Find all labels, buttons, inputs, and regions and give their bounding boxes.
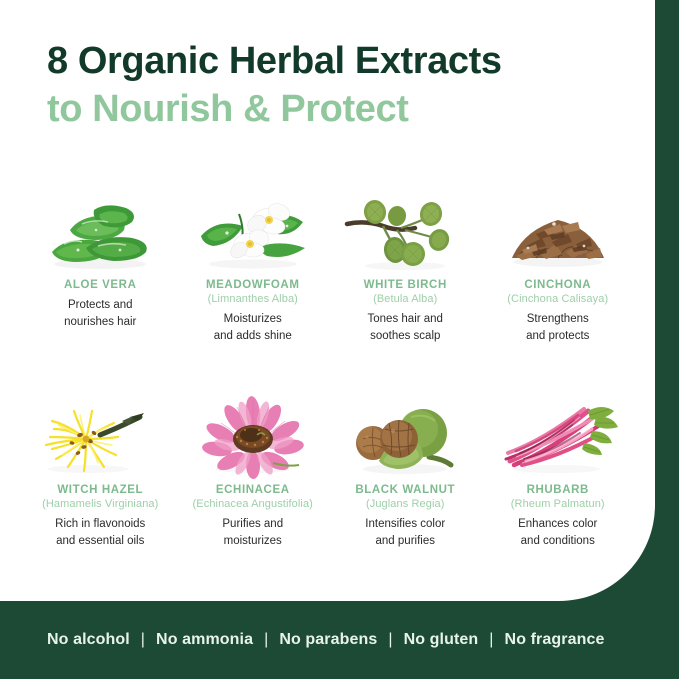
black-walnut-image: [339, 395, 471, 479]
content-card: 8 Organic Herbal Extracts to Nourish & P…: [0, 0, 655, 601]
ingredient-grid: ALOE VERA Protects and nourishes hair: [24, 190, 634, 600]
infographic-poster: 8 Organic Herbal Extracts to Nourish & P…: [0, 0, 679, 679]
ingredient-card-white-birch: WHITE BIRCH (Betula Alba) Tones hair and…: [329, 190, 482, 395]
claim-no-ammonia: No ammonia: [156, 631, 253, 649]
ingredient-latin-name: (Hamamelis Virginiana): [42, 497, 158, 511]
ingredient-latin-name: (Limnanthes Alba): [208, 292, 298, 306]
ingredient-name: CINCHONA: [524, 278, 591, 292]
aloe-vera-image: [34, 190, 166, 274]
ingredient-description: Moisturizes and adds shine: [214, 311, 292, 344]
page-title: 8 Organic Herbal Extracts: [47, 42, 627, 80]
ingredient-description: Intensifies color and purifies: [365, 516, 445, 549]
ingredient-card-meadowfoam: MEADOWFOAM (Limnanthes Alba) Moisturizes…: [177, 190, 330, 395]
ingredient-latin-name: (Betula Alba): [373, 292, 437, 306]
ingredient-card-echinacea: ECHINACEA (Echinacea Angustifolia) Purif…: [177, 395, 330, 600]
ingredient-latin-name: (Rheum Palmatun): [511, 497, 605, 511]
headline-block: 8 Organic Herbal Extracts to Nourish & P…: [47, 42, 627, 128]
witch-hazel-flower-image: [34, 395, 166, 479]
ingredient-name: WHITE BIRCH: [364, 278, 447, 292]
ingredient-description: Strengthens and protects: [526, 311, 589, 344]
ingredient-card-aloe-vera: ALOE VERA Protects and nourishes hair: [24, 190, 177, 395]
claim-no-parabens: No parabens: [279, 631, 377, 649]
ingredient-card-black-walnut: BLACK WALNUT (Juglans Regia) Intensifies…: [329, 395, 482, 600]
claims-row: No alcohol | No ammonia | No parabens | …: [47, 631, 604, 649]
white-birch-catkins-image: [339, 190, 471, 274]
ingredient-description: Tones hair and soothes scalp: [368, 311, 443, 344]
page-subtitle: to Nourish & Protect: [47, 90, 627, 128]
ingredient-description: Enhances color and conditions: [518, 516, 597, 549]
ingredient-latin-name: (Echinacea Angustifolia): [193, 497, 313, 511]
ingredient-latin-name: (Juglans Regia): [366, 497, 445, 511]
ingredient-card-cinchona: CINCHONA (Cinchona Calisaya) Strengthens…: [482, 190, 635, 395]
cinchona-bark-image: [492, 190, 624, 274]
claim-no-fragrance: No fragrance: [505, 631, 605, 649]
ingredient-card-witch-hazel: WITCH HAZEL (Hamamelis Virginiana) Rich …: [24, 395, 177, 600]
claim-no-gluten: No gluten: [404, 631, 479, 649]
ingredient-name: BLACK WALNUT: [355, 483, 455, 497]
ingredient-card-rhubarb: RHUBARB (Rheum Palmatun) Enhances color …: [482, 395, 635, 600]
claim-separator: |: [253, 631, 279, 649]
ingredient-name: ECHINACEA: [216, 483, 290, 497]
ingredient-name: RHUBARB: [527, 483, 589, 497]
claim-separator: |: [377, 631, 403, 649]
ingredient-latin-name: (Cinchona Calisaya): [507, 292, 608, 306]
rhubarb-stalks-image: [492, 395, 624, 479]
ingredient-description: Protects and nourishes hair: [64, 297, 136, 330]
claim-no-alcohol: No alcohol: [47, 631, 130, 649]
ingredient-name: WITCH HAZEL: [57, 483, 143, 497]
ingredient-name: ALOE VERA: [64, 278, 137, 292]
ingredient-description: Rich in flavonoids and essential oils: [55, 516, 145, 549]
claim-separator: |: [478, 631, 504, 649]
claim-separator: |: [130, 631, 156, 649]
ingredient-description: Purifies and moisturizes: [222, 516, 283, 549]
meadowfoam-flower-image: [187, 190, 319, 274]
ingredient-name: MEADOWFOAM: [206, 278, 300, 292]
claims-banner: No alcohol | No ammonia | No parabens | …: [0, 601, 679, 679]
echinacea-flower-image: [187, 395, 319, 479]
